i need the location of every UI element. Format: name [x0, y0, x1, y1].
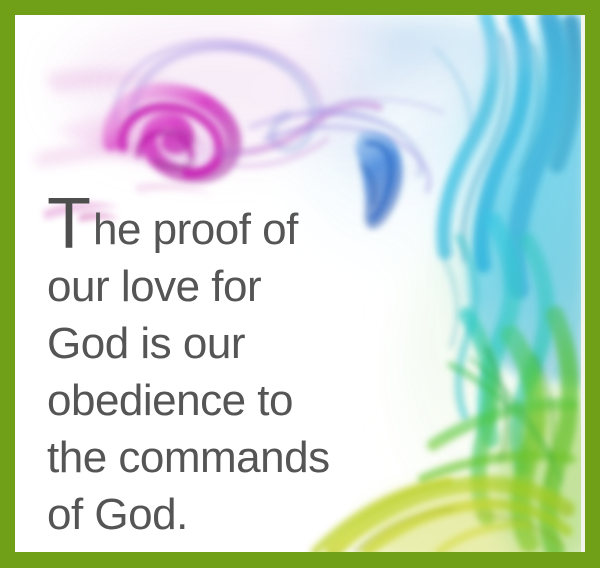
quote-line-4: obedience to: [47, 372, 377, 429]
quote-line-6: of God.: [47, 486, 377, 543]
border-right: [585, 0, 600, 568]
quote-dropcap: T: [47, 184, 91, 264]
quote-line-5: the commands: [47, 429, 377, 486]
quote-poster: The proof of our love for God is our obe…: [0, 0, 600, 568]
quote-line-1-text: he proof of: [93, 205, 298, 254]
quote-line-3: God is our: [47, 315, 377, 372]
border-left: [0, 0, 15, 568]
quote-text-block: The proof of our love for God is our obe…: [47, 196, 377, 543]
quote-line-1: The proof of: [47, 196, 377, 258]
border-bottom: [0, 552, 600, 568]
border-top: [0, 0, 600, 15]
quote-line-2: our love for: [47, 258, 377, 315]
